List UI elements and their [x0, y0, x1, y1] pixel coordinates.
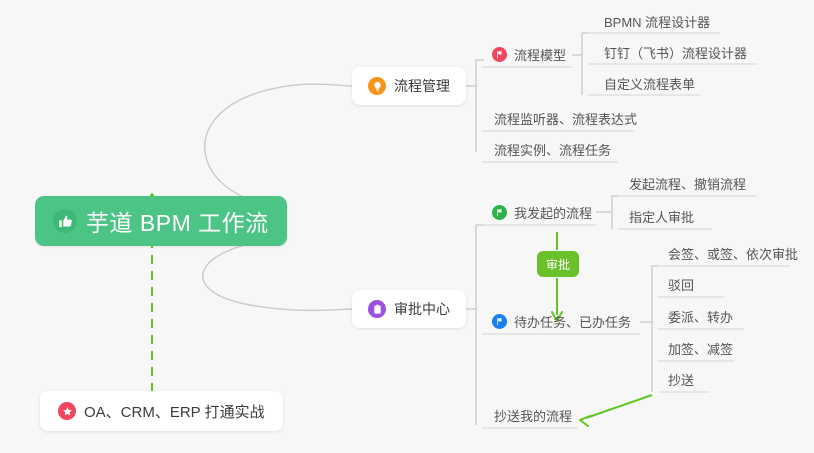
- node-cc-to-me-processes-label: 抄送我的流程: [494, 406, 572, 425]
- node-instance-task-label: 流程实例、流程任务: [494, 140, 611, 159]
- lightbulb-icon: [368, 77, 386, 95]
- node-designated-approver[interactable]: 指定人审批: [625, 203, 696, 229]
- link-root-to-process-management: [205, 84, 352, 205]
- node-countersign[interactable]: 会签、或签、依次审批: [664, 240, 800, 266]
- node-cc[interactable]: 抄送: [664, 366, 696, 392]
- node-add-remove-sign-label: 加签、减签: [668, 339, 733, 358]
- node-custom-form[interactable]: 自定义流程表单: [600, 70, 697, 96]
- node-my-started-processes[interactable]: 我发起的流程: [488, 199, 594, 225]
- node-start-cancel-process-label: 发起流程、撤销流程: [629, 174, 746, 193]
- node-todo-done-tasks-label: 待办任务、已办任务: [514, 312, 631, 331]
- node-reject-label: 驳回: [668, 275, 694, 294]
- root-node-label: 芋道 BPM 工作流: [86, 204, 269, 238]
- node-countersign-label: 会签、或签、依次审批: [668, 244, 798, 263]
- node-instance-task[interactable]: 流程实例、流程任务: [490, 136, 613, 162]
- flag-icon: [492, 205, 507, 220]
- node-delegate-transfer-label: 委派、转办: [668, 307, 733, 326]
- node-custom-form-label: 自定义流程表单: [604, 74, 695, 93]
- node-dingtalk-designer[interactable]: 钉钉（飞书）流程设计器: [600, 39, 749, 65]
- node-listener-expression[interactable]: 流程监听器、流程表达式: [490, 105, 639, 131]
- node-cc-to-me-processes[interactable]: 抄送我的流程: [490, 402, 574, 428]
- node-bpmn-designer-label: BPMN 流程设计器: [604, 12, 710, 31]
- star-icon: [58, 402, 76, 420]
- node-bpmn-designer[interactable]: BPMN 流程设计器: [600, 8, 712, 34]
- thumbs-up-icon: [53, 209, 77, 233]
- link-root-to-approval-center: [203, 240, 352, 310]
- mindmap-canvas: 芋道 BPM 工作流 OA、CRM、ERP 打通实战 流程管理: [0, 0, 814, 453]
- flag-icon: [492, 314, 507, 329]
- node-dingtalk-designer-label: 钉钉（飞书）流程设计器: [604, 43, 747, 62]
- node-todo-done-tasks[interactable]: 待办任务、已办任务: [488, 308, 633, 334]
- bottom-note-label: OA、CRM、ERP 打通实战: [84, 401, 265, 422]
- branch-process-management-label: 流程管理: [394, 76, 450, 96]
- arrowhead-cc-to-cc-to-me: [580, 416, 590, 426]
- arrow-cc-to-cc-to-me: [586, 395, 652, 418]
- node-start-cancel-process[interactable]: 发起流程、撤销流程: [625, 170, 748, 196]
- root-node[interactable]: 芋道 BPM 工作流: [35, 196, 287, 246]
- branch-process-management[interactable]: 流程管理: [352, 67, 466, 105]
- approval-annotation-chip: 审批: [537, 251, 579, 277]
- approval-annotation-chip-label: 审批: [546, 256, 570, 273]
- node-reject[interactable]: 驳回: [664, 271, 696, 297]
- branch-approval-center[interactable]: 审批中心: [352, 290, 466, 328]
- clipboard-icon: [368, 300, 386, 318]
- flag-icon: [492, 47, 507, 62]
- node-listener-expression-label: 流程监听器、流程表达式: [494, 109, 637, 128]
- node-my-started-processes-label: 我发起的流程: [514, 203, 592, 222]
- node-process-model-label: 流程模型: [514, 45, 566, 64]
- node-add-remove-sign[interactable]: 加签、减签: [664, 335, 735, 361]
- node-delegate-transfer[interactable]: 委派、转办: [664, 303, 735, 329]
- node-cc-label: 抄送: [668, 370, 694, 389]
- bottom-note-node[interactable]: OA、CRM、ERP 打通实战: [40, 391, 283, 431]
- branch-approval-center-label: 审批中心: [394, 299, 450, 319]
- node-process-model[interactable]: 流程模型: [488, 41, 568, 67]
- node-designated-approver-label: 指定人审批: [629, 207, 694, 226]
